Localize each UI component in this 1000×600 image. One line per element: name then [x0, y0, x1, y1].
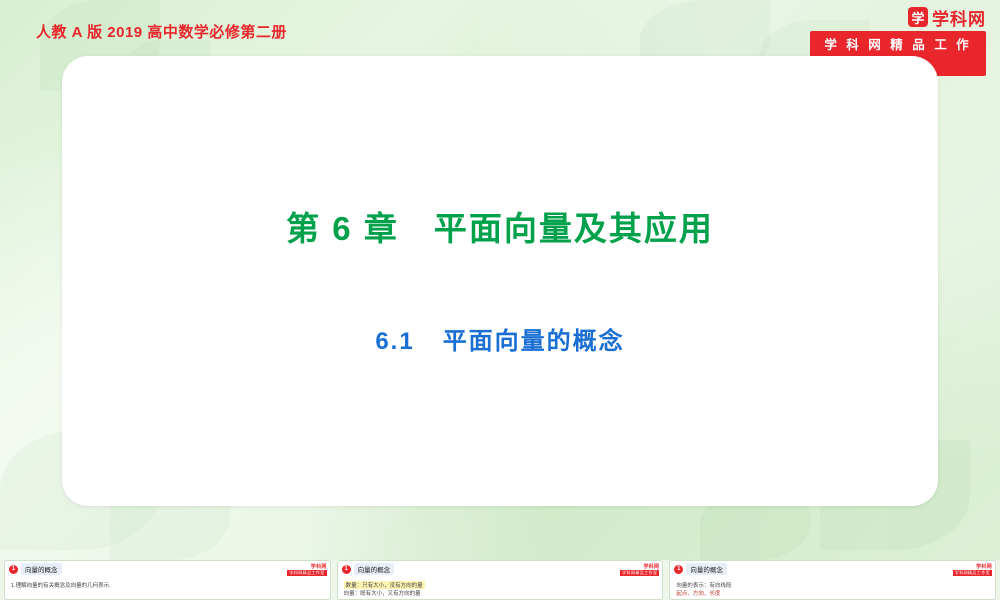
thumbnail-body: 向量的表示：有向线段 起点、方向、长度 — [676, 581, 989, 597]
thumbnail-logo-name: 学科网 — [287, 563, 326, 570]
thumbnail-header: 1 向量的概念 — [338, 561, 663, 577]
chapter-title: 第 6 章 平面向量及其应用 — [62, 202, 938, 250]
thumbnail-logo-name: 学科网 — [620, 563, 659, 570]
thumbnail-title: 向量的概念 — [21, 563, 62, 575]
thumbnail-text-line: 数量：只有大小，没有方向的量 — [344, 581, 425, 589]
slide-stage: 人教 A 版 2019 高中数学必修第二册 学 学科网 学 科 网 精 品 工 … — [0, 0, 1000, 600]
title-card: 第 6 章 平面向量及其应用 6.1平面向量的概念 — [62, 56, 938, 506]
thumbnail-slide-2[interactable]: 1 向量的概念 学科网 学科网精品工作室 数量：只有大小，没有方向的量 向量：既… — [337, 560, 664, 600]
thumbnail-header: 1 向量的概念 — [5, 561, 330, 577]
thumbnail-logo: 学科网 学科网精品工作室 — [620, 563, 659, 576]
thumbnail-text-line: 1.理解向量的有关概念及向量的几何表示. — [11, 581, 324, 589]
thumbnail-logo: 学科网 学科网精品工作室 — [287, 563, 326, 576]
thumbnail-body: 1.理解向量的有关概念及向量的几何表示. — [11, 581, 324, 597]
logo-name: 学科网 — [932, 5, 986, 30]
slide-canvas: 人教 A 版 2019 高中数学必修第二册 学 学科网 学 科 网 精 品 工 … — [0, 0, 1000, 560]
slide-number-badge: 1 — [9, 565, 18, 574]
thumbnail-title: 向量的概念 — [686, 563, 727, 575]
thumbnail-header: 1 向量的概念 — [670, 561, 995, 577]
slide-number-badge: 1 — [674, 565, 683, 574]
thumbnail-logo-tagline: 学科网精品工作室 — [953, 570, 992, 576]
thumbnail-title: 向量的概念 — [354, 563, 395, 575]
thumbnail-logo-name: 学科网 — [953, 563, 992, 570]
thumbnail-slide-3[interactable]: 1 向量的概念 学科网 学科网精品工作室 向量的表示：有向线段 起点、方向、长度 — [669, 560, 996, 600]
slide-number-badge: 1 — [342, 565, 351, 574]
thumbnail-logo-tagline: 学科网精品工作室 — [287, 570, 326, 576]
thumbnail-body: 数量：只有大小，没有方向的量 向量：既有大小，又有方向的量 — [344, 581, 657, 597]
section-heading: 6.1平面向量的概念 — [62, 321, 938, 356]
thumbnail-logo-tagline: 学科网精品工作室 — [620, 570, 659, 576]
thumbnail-logo: 学科网 学科网精品工作室 — [953, 563, 992, 576]
textbook-label: 人教 A 版 2019 高中数学必修第二册 — [36, 22, 296, 44]
logo-icon: 学 — [908, 7, 928, 27]
thumbnail-text-line: 向量的表示：有向线段 — [676, 581, 989, 589]
thumbnail-strip[interactable]: 1 向量的概念 学科网 学科网精品工作室 1.理解向量的有关概念及向量的几何表示… — [0, 560, 1000, 600]
thumbnail-text-line: 向量：既有大小，又有方向的量 — [344, 589, 657, 597]
section-title: 平面向量的概念 — [443, 328, 625, 355]
thumbnail-slide-1[interactable]: 1 向量的概念 学科网 学科网精品工作室 1.理解向量的有关概念及向量的几何表示… — [4, 560, 331, 600]
thumbnail-text-line: 起点、方向、长度 — [676, 589, 989, 597]
section-number: 6.1 — [375, 328, 414, 355]
